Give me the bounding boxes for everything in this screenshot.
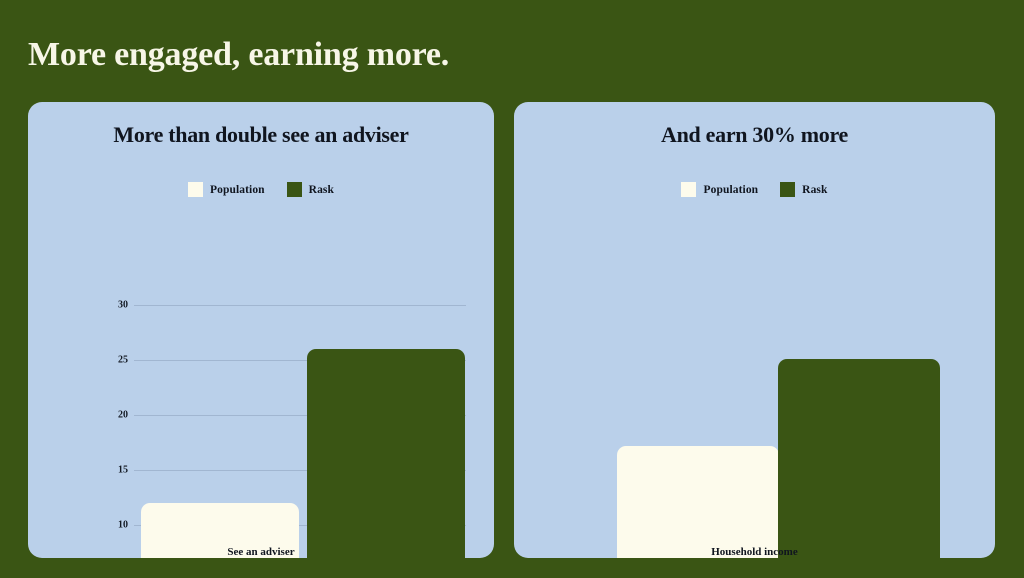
x-axis-label-left: See an adviser — [28, 546, 494, 558]
chart-panel-right: And earn 30% more Population Rask 050000… — [514, 102, 995, 558]
chart-title-right: And earn 30% more — [514, 122, 995, 148]
bar-population[interactable] — [617, 446, 779, 558]
bar-rask[interactable] — [307, 349, 465, 558]
bar-rask[interactable] — [778, 359, 940, 558]
legend-item-rask[interactable]: Rask — [287, 182, 334, 197]
legend-item-population[interactable]: Population — [188, 182, 265, 197]
legend-label-population: Population — [703, 184, 758, 196]
chart-legend-left: Population Rask — [28, 182, 494, 197]
legend-swatch-population-icon — [681, 182, 696, 197]
bar-group — [28, 202, 494, 558]
bar-group — [514, 202, 995, 558]
plot-area-left: 051015202530 — [28, 202, 494, 558]
legend-label-population: Population — [210, 184, 265, 196]
legend-swatch-rask-icon — [780, 182, 795, 197]
slide-title: More engaged, earning more. — [28, 36, 449, 73]
legend-swatch-population-icon — [188, 182, 203, 197]
legend-item-population[interactable]: Population — [681, 182, 758, 197]
chart-panel-left: More than double see an adviser Populati… — [28, 102, 494, 558]
chart-title-left: More than double see an adviser — [28, 122, 494, 148]
chart-legend-right: Population Rask — [514, 182, 995, 197]
x-axis-label-right: Household income — [514, 546, 995, 558]
legend-label-rask: Rask — [802, 184, 827, 196]
legend-label-rask: Rask — [309, 184, 334, 196]
slide-canvas: More engaged, earning more. More than do… — [0, 0, 1024, 578]
legend-swatch-rask-icon — [287, 182, 302, 197]
plot-area-right: 050000100000150000200000 — [514, 202, 995, 558]
legend-item-rask[interactable]: Rask — [780, 182, 827, 197]
